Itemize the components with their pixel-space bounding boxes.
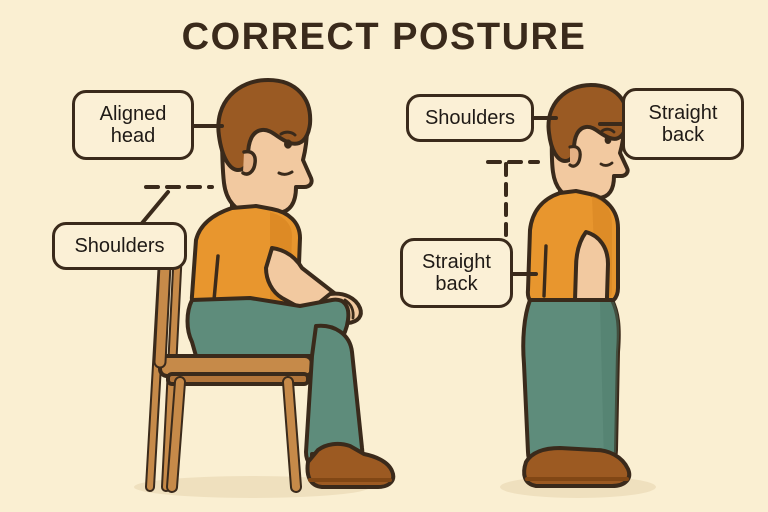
callout-shoulders-seated[interactable]: Shoulders [52, 222, 187, 270]
callout-aligned-head[interactable]: Aligned head [72, 90, 194, 160]
callout-shoulders-standing[interactable]: Shoulders [406, 94, 534, 142]
seated-eye [284, 139, 292, 148]
callout-straight-back-seated[interactable]: Straight back [400, 238, 513, 308]
posture-infographic: CORRECT POSTURE [0, 0, 768, 512]
standing-ear [570, 147, 580, 167]
standing-figure [523, 85, 629, 486]
seated-ear [243, 152, 255, 174]
standing-sleeve-seam [544, 246, 546, 296]
callout-straight-back-standing[interactable]: Straight back [622, 88, 744, 160]
standing-eye [605, 136, 612, 144]
